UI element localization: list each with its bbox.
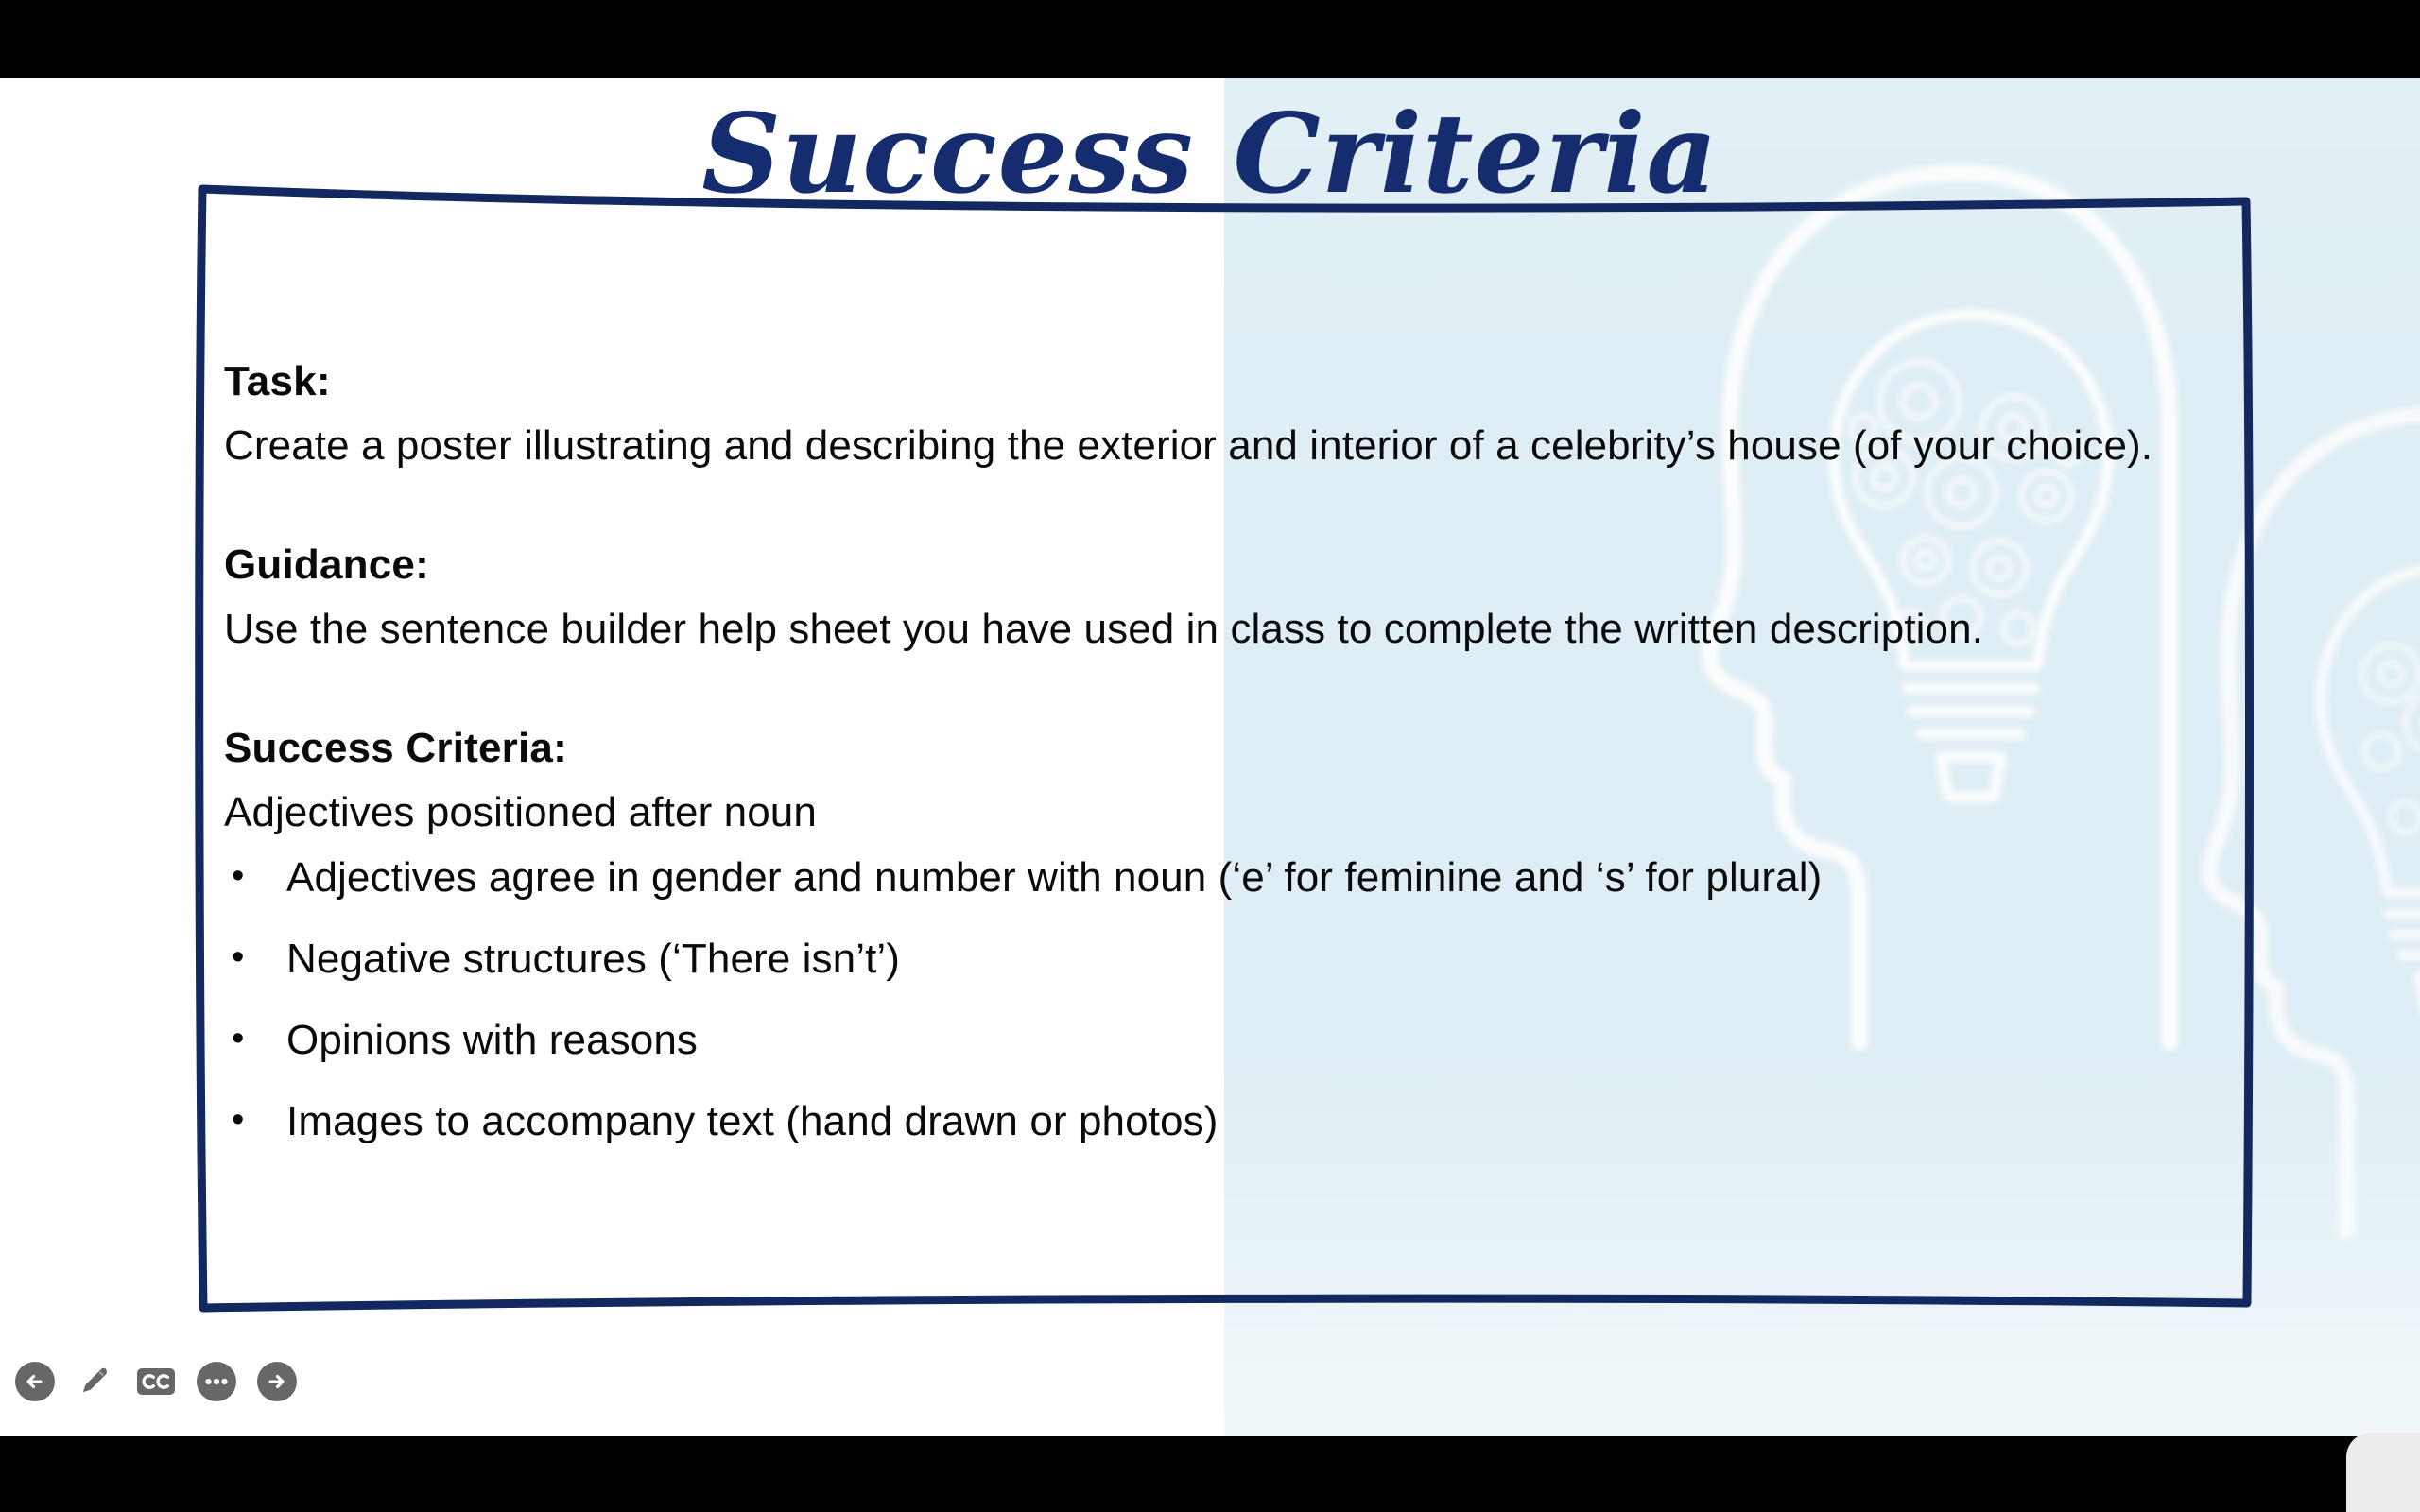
captions-button[interactable] [134,1360,178,1403]
page-title: Success Criteria [0,92,2420,217]
ellipsis-icon [195,1360,238,1403]
slide-canvas: Success Criteria Task: Create a poster i… [0,78,2420,1436]
list-item-label: Images to accompany text (hand drawn or … [286,1098,1218,1144]
section-label-guidance: Guidance: [224,541,2195,590]
bullet-icon: • [232,1097,244,1143]
corner-panel [2346,1433,2420,1512]
arrow-right-icon [255,1360,299,1403]
player-toolbar [0,1326,444,1436]
bullet-icon: • [232,935,244,981]
section-label-task: Task: [224,357,2195,406]
cc-icon [134,1360,178,1403]
bullet-icon: • [232,853,244,900]
section-body-guidance: Use the sentence builder help sheet you … [224,605,2195,654]
section-task: Task: Create a poster illustrating and d… [224,357,2195,471]
pencil-icon [74,1360,117,1403]
section-body-task: Create a poster illustrating and describ… [224,421,2195,471]
spacer [224,471,2195,541]
more-button[interactable] [195,1360,238,1403]
criteria-bullet-list: • Adjectives agree in gender and number … [224,853,2195,1146]
section-body-success-criteria: Adjectives positioned after noun [224,788,2195,837]
section-label-success-criteria: Success Criteria: [224,724,2195,773]
previous-button[interactable] [13,1360,57,1403]
arrow-left-icon [13,1360,57,1403]
content-body: Task: Create a poster illustrating and d… [224,357,2195,1178]
spacer [224,654,2195,724]
list-item: • Negative structures (‘There isn’t’) [224,935,2195,984]
list-item-label: Opinions with reasons [286,1017,698,1063]
section-success-criteria: Success Criteria: Adjectives positioned … [224,724,2195,837]
section-guidance: Guidance: Use the sentence builder help … [224,541,2195,654]
bullet-icon: • [232,1016,244,1062]
pen-button[interactable] [74,1360,117,1403]
list-item-label: Negative structures (‘There isn’t’) [286,936,900,982]
list-item: • Adjectives agree in gender and number … [224,853,2195,902]
next-button[interactable] [255,1360,299,1403]
screenshot-root: Success Criteria Task: Create a poster i… [0,0,2420,1512]
list-item: • Images to accompany text (hand drawn o… [224,1097,2195,1146]
list-item-label: Adjectives agree in gender and number wi… [286,854,1822,901]
list-item: • Opinions with reasons [224,1016,2195,1065]
